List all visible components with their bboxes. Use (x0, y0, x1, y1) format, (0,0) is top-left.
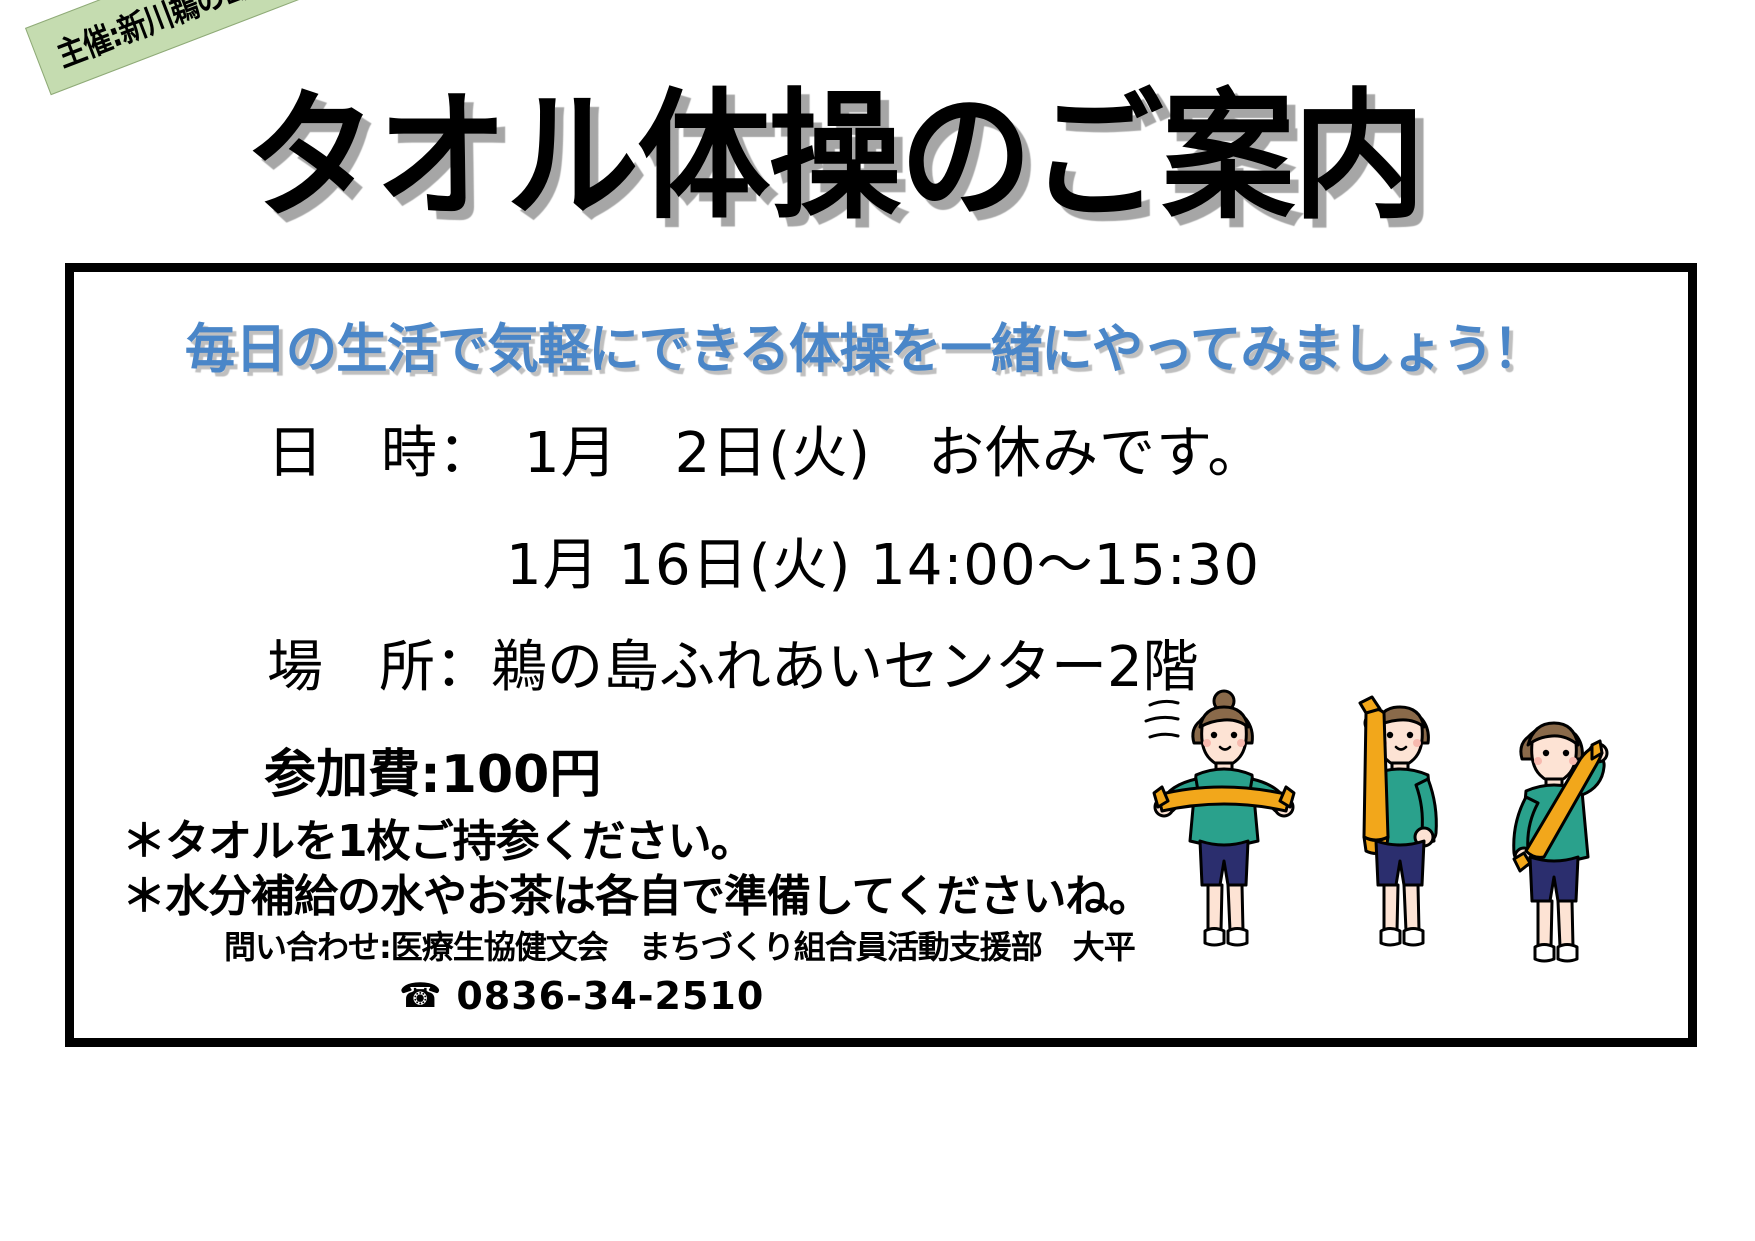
place-line: 場 所：鵜の島ふれあいセンター2階 (267, 622, 1199, 703)
phone-line: ☎ 0836-34-2510 (399, 974, 764, 1018)
figure-left (1146, 691, 1294, 945)
phone-number: 0836-34-2510 (456, 974, 764, 1018)
contact-line: 問い合わせ:医療生協健文会 まちづくり組合員活動支援部 大平 (224, 922, 1135, 968)
fee-line: 参加費:100円 (264, 732, 601, 807)
page-title: タオル体操のご案内 (244, 88, 1424, 228)
content-box: 毎日の生活で気軽にできる体操を一緒にやってみましょう！ 日 時： 1月 2日(火… (65, 263, 1697, 1047)
phone-icon: ☎ (399, 979, 442, 1013)
datetime-line-second: 1月 16日(火) 14:00～15:30 (506, 520, 1260, 601)
datetime-line-first: 日 時： 1月 2日(火) お休みです。 (267, 408, 1264, 489)
organizer-banner-label: 主催:新川鵜の島支部 (49, 0, 307, 77)
subtitle-text: 毎日の生活で気軽にできる体操を一緒にやってみましょう！ (146, 307, 1582, 383)
figure-right (1514, 723, 1607, 961)
note-line-hydration: ＊水分補給の水やお茶は各自で準備してくださいね。 (122, 860, 1151, 924)
figure-center (1360, 697, 1436, 945)
poster-header: 主催:新川鵜の島支部 タオル体操のご案内 (0, 0, 1755, 265)
three-people-towel-exercise-illustration (1128, 687, 1648, 1017)
